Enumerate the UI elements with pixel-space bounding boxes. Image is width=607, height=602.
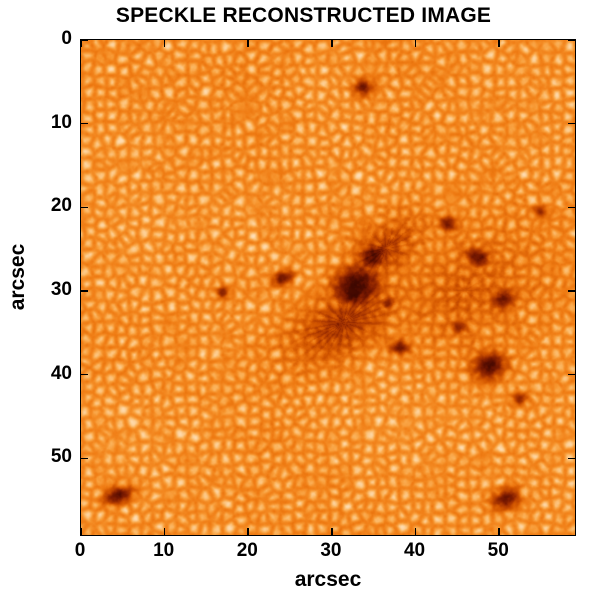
x-tick-label: 0 [50,541,110,560]
y-tick-label: 0 [6,29,72,48]
y-tick-mark [81,39,88,41]
y-tick-mark [568,290,575,292]
y-tick-label: 50 [6,447,72,466]
y-tick-mark [568,458,575,460]
y-tick-mark [81,207,88,209]
x-tick-label: 20 [217,541,277,560]
y-tick-mark [568,123,575,125]
y-tick-mark [81,374,88,376]
x-tick-mark [498,40,500,47]
y-axis-label: arcsec [6,167,30,387]
x-tick-label: 50 [468,541,528,560]
y-tick-mark [81,290,88,292]
x-tick-mark [80,40,82,47]
x-tick-label: 30 [301,541,361,560]
x-axis-label: arcsec [80,568,576,592]
x-tick-mark [164,528,166,535]
x-tick-mark [331,40,333,47]
y-tick-mark [81,123,88,125]
x-tick-mark [498,528,500,535]
x-tick-mark [164,40,166,47]
x-tick-mark [80,528,82,535]
x-tick-mark [247,40,249,47]
y-tick-mark [568,39,575,41]
page-title: SPECKLE RECONSTRUCTED IMAGE [0,4,607,28]
y-tick-mark [568,207,575,209]
image-axes [80,39,576,536]
x-tick-label: 40 [385,541,445,560]
x-tick-mark [247,528,249,535]
figure-root: SPECKLE RECONSTRUCTED IMAGE 01020304050 … [0,0,607,602]
speckle-image-heatmap [81,40,575,535]
x-tick-label: 10 [134,541,194,560]
x-tick-mark [415,528,417,535]
x-tick-mark [331,528,333,535]
x-tick-mark [415,40,417,47]
y-tick-label: 10 [6,113,72,132]
y-tick-mark [568,374,575,376]
y-tick-mark [81,458,88,460]
